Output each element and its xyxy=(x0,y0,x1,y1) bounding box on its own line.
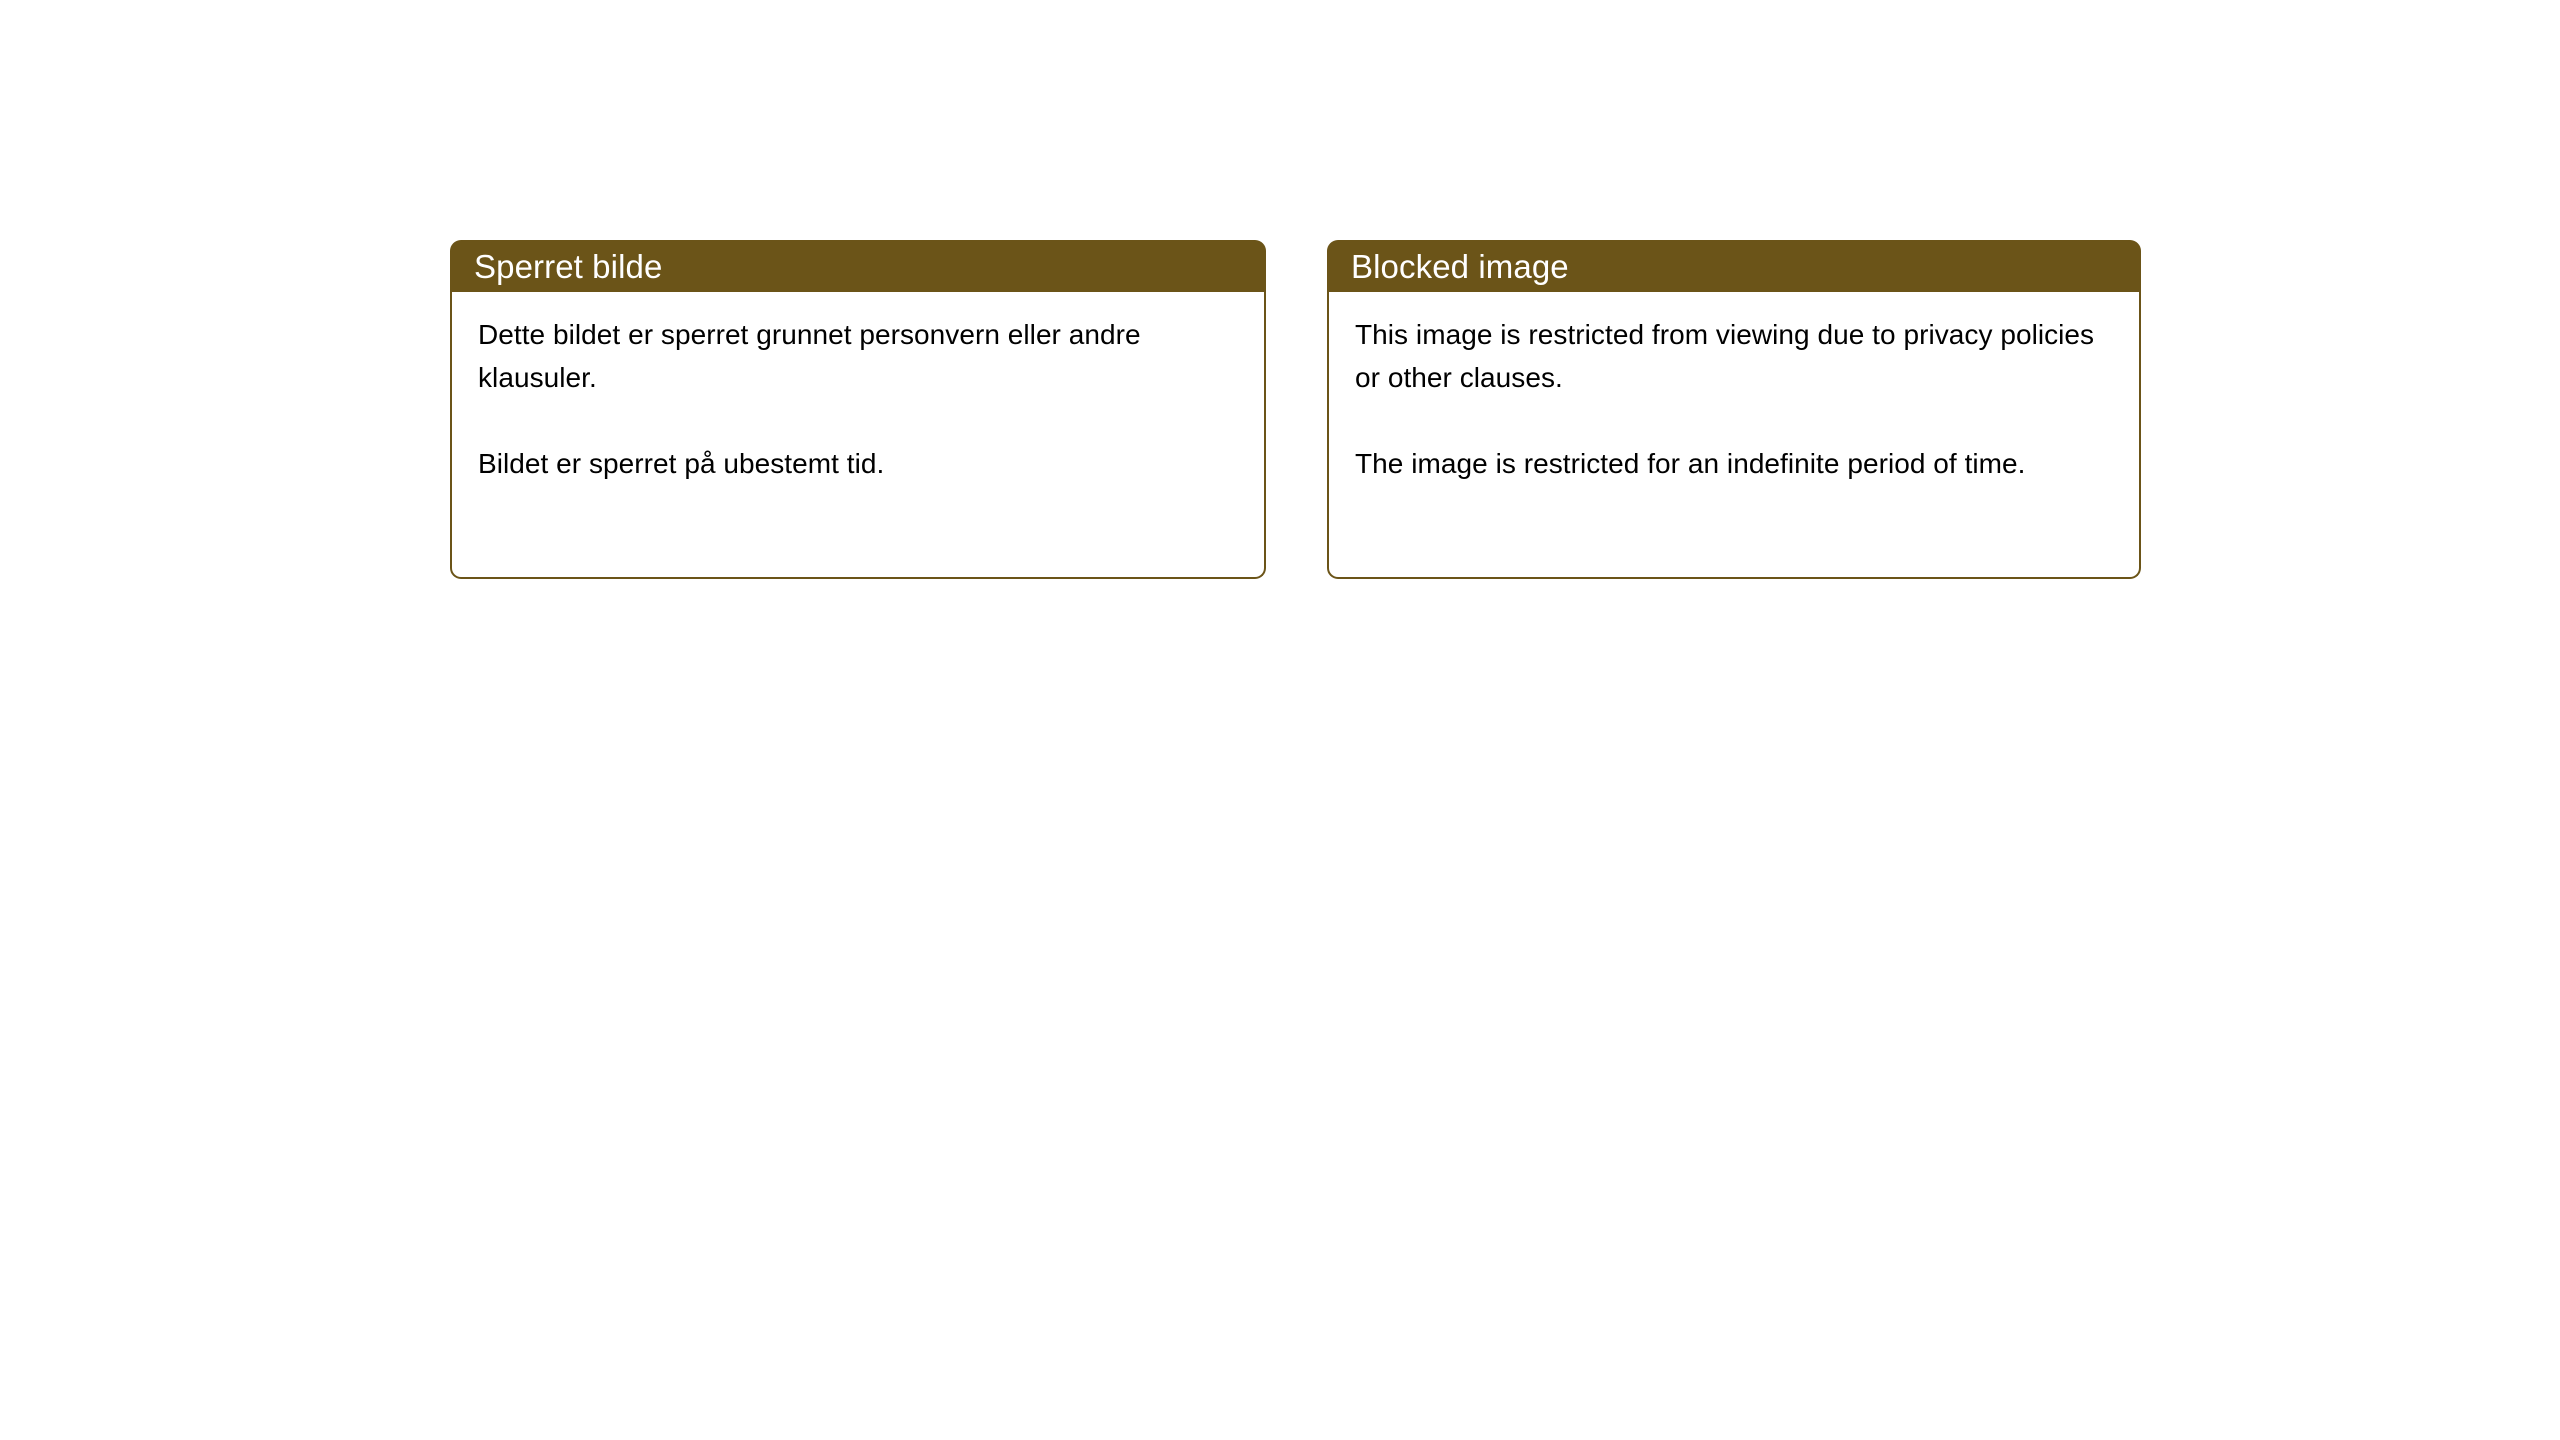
notice-card-title-norwegian: Sperret bilde xyxy=(474,250,662,283)
notice-card-header-english: Blocked image xyxy=(1327,240,2141,292)
notice-card-title-english: Blocked image xyxy=(1351,250,1569,283)
notice-card-header-norwegian: Sperret bilde xyxy=(450,240,1266,292)
notice-card-paragraph-duration-norwegian: Bildet er sperret på ubestemt tid. xyxy=(478,442,1238,485)
notice-card-paragraph-reason-english: This image is restricted from viewing du… xyxy=(1355,313,2113,399)
notice-card-body-english: This image is restricted from viewing du… xyxy=(1327,291,2141,579)
blocked-image-notice-card-english: Blocked image This image is restricted f… xyxy=(1327,240,2141,579)
page-root: Sperret bilde Dette bildet er sperret gr… xyxy=(0,0,2560,1440)
notice-card-paragraph-reason-norwegian: Dette bildet er sperret grunnet personve… xyxy=(478,313,1238,399)
notice-cards-container: Sperret bilde Dette bildet er sperret gr… xyxy=(450,240,2141,579)
blocked-image-notice-card-norwegian: Sperret bilde Dette bildet er sperret gr… xyxy=(450,240,1266,579)
notice-card-body-norwegian: Dette bildet er sperret grunnet personve… xyxy=(450,291,1266,579)
notice-card-paragraph-duration-english: The image is restricted for an indefinit… xyxy=(1355,442,2113,485)
